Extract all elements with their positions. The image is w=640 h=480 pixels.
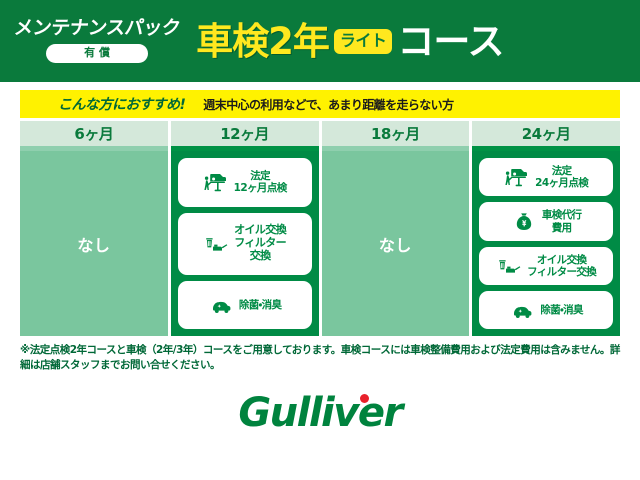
column-header-label: 12ヶ月 <box>171 121 319 146</box>
car-lift-inspection-icon <box>203 170 229 194</box>
brand-title: メンテナンスパック <box>13 19 181 38</box>
no-service-label: なし <box>379 232 412 256</box>
service-card-label: オイル交換 フィルター 交換 <box>234 224 286 263</box>
course-suffix-label: コース <box>397 23 503 60</box>
header-bar: メンテナンスパック 有償 車検2年 ライト コース <box>0 0 640 82</box>
column-body: なし <box>20 151 168 336</box>
maintenance-schedule-table: 6ヶ月なし12ヶ月法定 12ヶ月点検オイル交換 フィルター 交換除菌・消臭18ヶ… <box>20 121 620 336</box>
service-card-label: 車検代行 費用 <box>542 209 582 234</box>
car-lift-inspection-icon <box>504 165 530 189</box>
service-card-label: 除菌・消臭 <box>540 304 583 316</box>
service-card-label: 法定 24ヶ月点検 <box>535 165 588 190</box>
column-body: なし <box>322 151 470 336</box>
column-header-label: 24ヶ月 <box>472 121 620 146</box>
schedule-column-12ヶ月: 12ヶ月法定 12ヶ月点検オイル交換 フィルター 交換除菌・消臭 <box>171 121 319 336</box>
schedule-column-24ヶ月: 24ヶ月法定 24ヶ月点検車検代行 費用オイル交換 フィルター交換除菌・消臭 <box>472 121 620 336</box>
oil-filter-change-icon <box>496 254 522 278</box>
brand-logo: Gulliver <box>20 387 620 439</box>
recommend-note: 週末中心の利用などで、あまり距離を走らない方 <box>203 96 453 113</box>
service-card: 法定 24ヶ月点検 <box>479 158 613 196</box>
content-area: こんな方におすすめ! 週末中心の利用などで、あまり距離を走らない方 6ヶ月なし1… <box>0 82 640 439</box>
gulliver-logo-text: Gulliver <box>238 390 401 436</box>
recommend-title: こんな方におすすめ! <box>58 94 185 114</box>
service-card: 除菌・消臭 <box>178 281 312 329</box>
money-bag-icon <box>511 210 537 234</box>
schedule-column-18ヶ月: 18ヶ月なし <box>322 121 470 336</box>
schedule-column-6ヶ月: 6ヶ月なし <box>20 121 168 336</box>
course-main-label: 車検2年 <box>196 23 329 60</box>
column-body: 法定 12ヶ月点検オイル交換 フィルター 交換除菌・消臭 <box>171 151 319 336</box>
paid-badge: 有償 <box>46 44 148 63</box>
no-service-label: なし <box>77 232 110 256</box>
service-card: 車検代行 費用 <box>479 202 613 240</box>
service-card-label: 除菌・消臭 <box>239 299 282 311</box>
service-card-label: 法定 12ヶ月点検 <box>234 170 287 195</box>
car-sanitize-icon <box>509 298 535 322</box>
oil-filter-change-icon <box>203 232 229 256</box>
course-title-block: 車検2年 ライト コース <box>196 23 626 60</box>
service-card: 除菌・消臭 <box>479 291 613 329</box>
service-card: オイル交換 フィルター 交換 <box>178 213 312 276</box>
car-sanitize-icon <box>208 293 234 317</box>
service-card-label: オイル交換 フィルター交換 <box>527 254 596 279</box>
column-body: 法定 24ヶ月点検車検代行 費用オイル交換 フィルター交換除菌・消臭 <box>472 151 620 336</box>
column-header-label: 6ヶ月 <box>20 121 168 146</box>
course-tag-badge: ライト <box>334 29 393 54</box>
footnote-text: ※法定点検2年コースと車検（2年/3年）コースをご用意しております。車検コースに… <box>20 343 620 373</box>
service-card: オイル交換 フィルター交換 <box>479 247 613 285</box>
service-card: 法定 12ヶ月点検 <box>178 158 312 207</box>
column-header-label: 18ヶ月 <box>322 121 470 146</box>
recommend-banner: こんな方におすすめ! 週末中心の利用などで、あまり距離を走らない方 <box>20 90 620 118</box>
brand-block: メンテナンスパック 有償 <box>14 19 180 63</box>
